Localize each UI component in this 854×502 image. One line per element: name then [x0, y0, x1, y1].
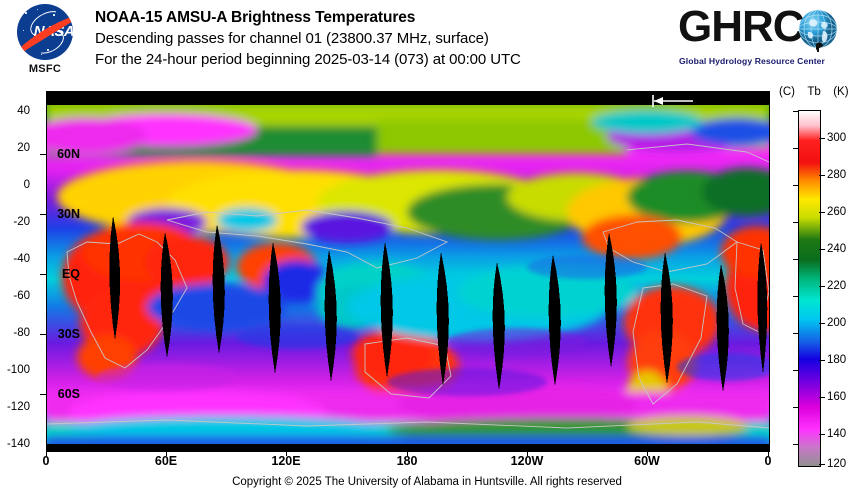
colorbar-k-280: 280 [827, 170, 846, 181]
map-xtick-180: 180 [377, 455, 437, 467]
map-xtick-mark-180 [407, 450, 408, 456]
map-canvas [47, 92, 769, 451]
colorbar-c-mark-m40 [793, 259, 799, 260]
colorbar-k-200: 200 [827, 318, 846, 329]
map-ytick-mark-30s [40, 334, 46, 335]
colorbar-k-240: 240 [827, 244, 846, 255]
colorbar-k-mark-220 [819, 286, 825, 287]
map-xtick-0e: 0 [16, 455, 76, 467]
map-xtick-mark-120e [286, 450, 287, 456]
colorbar-c-20: 20 [0, 143, 30, 154]
colorbar-c-m60: -60 [0, 291, 30, 302]
colorbar-variable-label: Tb [807, 86, 820, 98]
map-xtick-mark-360 [768, 450, 769, 456]
colorbar-k-140: 140 [827, 429, 846, 440]
map-xtick-mark-120w [527, 450, 528, 456]
map-xtick-120e: 120E [256, 455, 316, 467]
colorbar-c-mark-m20 [793, 222, 799, 223]
colorbar-k-mark-200 [819, 323, 825, 324]
map-xtick-mark-60w [647, 450, 648, 456]
colorbar-c-m140: -140 [0, 439, 30, 450]
colorbar-k-mark-260 [819, 212, 825, 213]
colorbar-c-mark-m80 [793, 333, 799, 334]
copyright-notice: Copyright © 2025 The University of Alaba… [0, 476, 854, 488]
map-xtick-mark-60e [166, 450, 167, 456]
colorbar-k-mark-300 [819, 138, 825, 139]
colorbar-c-mark-m120 [793, 407, 799, 408]
nasa-swoosh-icon [19, 10, 73, 54]
ghrc-logo: GHRC Global Hydrology Resource Center [676, 2, 848, 74]
map-ytick-mark-60s [40, 394, 46, 395]
map-xtick-mark-0e [46, 450, 47, 456]
colorbar-k-mark-120 [819, 464, 825, 465]
title-block: NOAA-15 AMSU-A Brightness Temperatures D… [95, 7, 675, 70]
colorbar-unit-celsius: (C) [779, 86, 795, 98]
colorbar-c-mark-m60 [793, 296, 799, 297]
ghrc-wordmark: GHRC [678, 5, 804, 49]
globe-icon [796, 8, 842, 54]
colorbar-k-260: 260 [827, 207, 846, 218]
colorbar-k-160: 160 [827, 392, 846, 403]
colorbar-c-mark-20 [793, 148, 799, 149]
map-ytick-60s: 60S [20, 388, 80, 400]
map-ytick-eq: EQ [20, 268, 80, 280]
colorbar-k-mark-240 [819, 249, 825, 250]
colorbar-k-mark-280 [819, 175, 825, 176]
colorbar-c-m20: -20 [0, 217, 30, 228]
nasa-center-label: MSFC [17, 63, 73, 75]
page-subtitle: Descending passes for channel 01 (23800.… [95, 28, 675, 49]
colorbar-c-m100: -100 [0, 365, 30, 376]
brightness-temperature-map[interactable] [46, 91, 770, 452]
colorbar[interactable] [798, 110, 821, 467]
colorbar-c-mark-m140 [793, 444, 799, 445]
colorbar-c-40: 40 [0, 106, 30, 117]
colorbar-k-220: 220 [827, 281, 846, 292]
map-xtick-360: 0 [738, 455, 798, 467]
ghrc-tagline: Global Hydrology Resource Center [679, 56, 825, 66]
page-title: NOAA-15 AMSU-A Brightness Temperatures [95, 7, 675, 28]
colorbar-k-mark-180 [819, 360, 825, 361]
map-ytick-mark-30n [40, 214, 46, 215]
colorbar-k-mark-140 [819, 434, 825, 435]
descending-pass-direction-arrow [651, 94, 695, 108]
colorbar-header: (C) Tb (K) [779, 86, 849, 98]
map-xtick-120w: 120W [497, 455, 557, 467]
colorbar-c-m120: -120 [0, 402, 30, 413]
colorbar-c-0: 0 [0, 180, 30, 191]
colorbar-k-180: 180 [827, 355, 846, 366]
nasa-logo: NASA MSFC [8, 4, 82, 78]
colorbar-k-mark-160 [819, 397, 825, 398]
colorbar-k-300: 300 [827, 133, 846, 144]
map-xtick-60w: 60W [617, 455, 677, 467]
nasa-meatball-icon: NASA [17, 4, 73, 60]
colorbar-k-120: 120 [827, 459, 846, 470]
map-ytick-mark-eq [40, 274, 46, 275]
colorbar-c-mark-m100 [793, 370, 799, 371]
map-xtick-60e: 60E [136, 455, 196, 467]
colorbar-c-mark-40 [793, 111, 799, 112]
colorbar-gradient [799, 111, 820, 466]
colorbar-c-m40: -40 [0, 254, 30, 265]
page-period: For the 24-hour period beginning 2025-03… [95, 49, 675, 70]
colorbar-c-m80: -80 [0, 328, 30, 339]
map-ytick-mark-60n [40, 154, 46, 155]
colorbar-unit-kelvin: (K) [833, 86, 848, 98]
colorbar-c-mark-0 [793, 185, 799, 186]
